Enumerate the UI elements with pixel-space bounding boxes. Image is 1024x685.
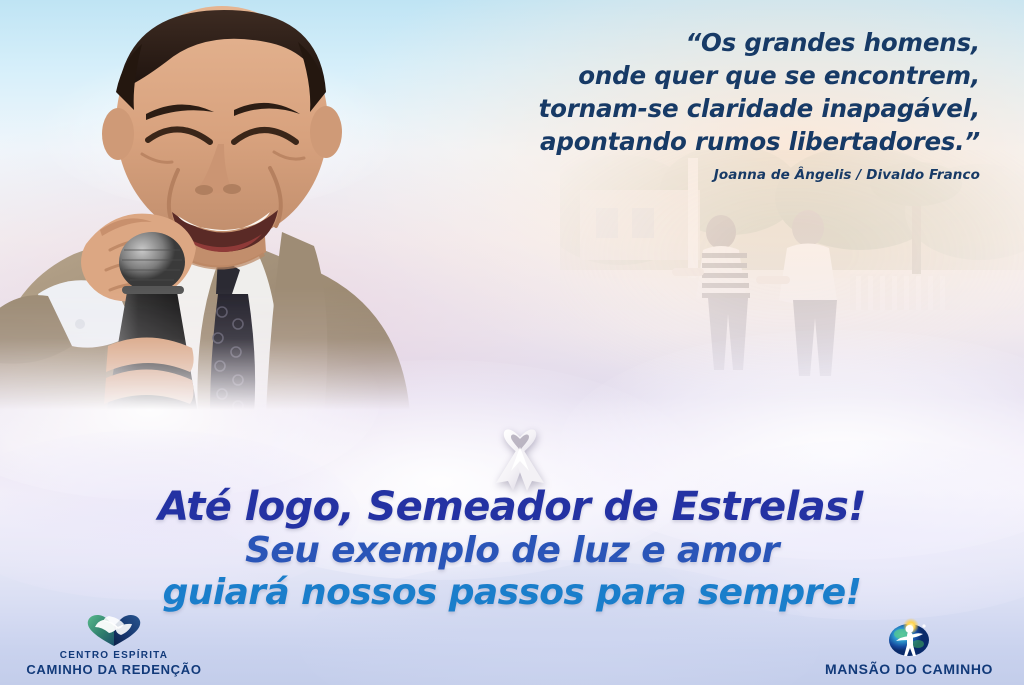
- awareness-ribbon-icon: [487, 413, 553, 491]
- logo-right-line-1: MANSÃO DO CAMINHO: [804, 661, 1014, 677]
- quote-line-4: apontando rumos libertadores.”: [360, 125, 980, 158]
- logo-left-line-2: CAMINHO DA REDENÇÃO: [14, 662, 214, 677]
- logo-left-line-1: CENTRO ESPÍRITA: [14, 650, 214, 661]
- quote-line-2: onde quer que se encontrem,: [360, 59, 980, 92]
- logo-mansao-do-caminho[interactable]: MANSÃO DO CAMINHO: [804, 618, 1014, 677]
- headline-line-3: guiará nossos passos para sempre!: [0, 572, 1024, 614]
- headline-line-1: Até logo, Semeador de Estrelas!: [0, 484, 1024, 530]
- globe-figure-icon: [884, 618, 934, 658]
- headline-block: Até logo, Semeador de Estrelas! Seu exem…: [0, 484, 1024, 614]
- logo-centro-espirita[interactable]: CENTRO ESPÍRITA CAMINHO DA REDENÇÃO: [14, 613, 214, 677]
- quote-block: “Os grandes homens, onde quer que se enc…: [360, 26, 980, 183]
- hands-heart-icon: [85, 613, 143, 647]
- quote-attribution: Joanna de Ângelis / Divaldo Franco: [360, 167, 980, 183]
- quote-line-3: tornam-se claridade inapagável,: [360, 92, 980, 125]
- headline-line-2: Seu exemplo de luz e amor: [0, 530, 1024, 572]
- background-photo: [560, 150, 1024, 410]
- quote-line-1: “Os grandes homens,: [360, 26, 980, 59]
- memorial-poster: “Os grandes homens, onde quer que se enc…: [0, 0, 1024, 685]
